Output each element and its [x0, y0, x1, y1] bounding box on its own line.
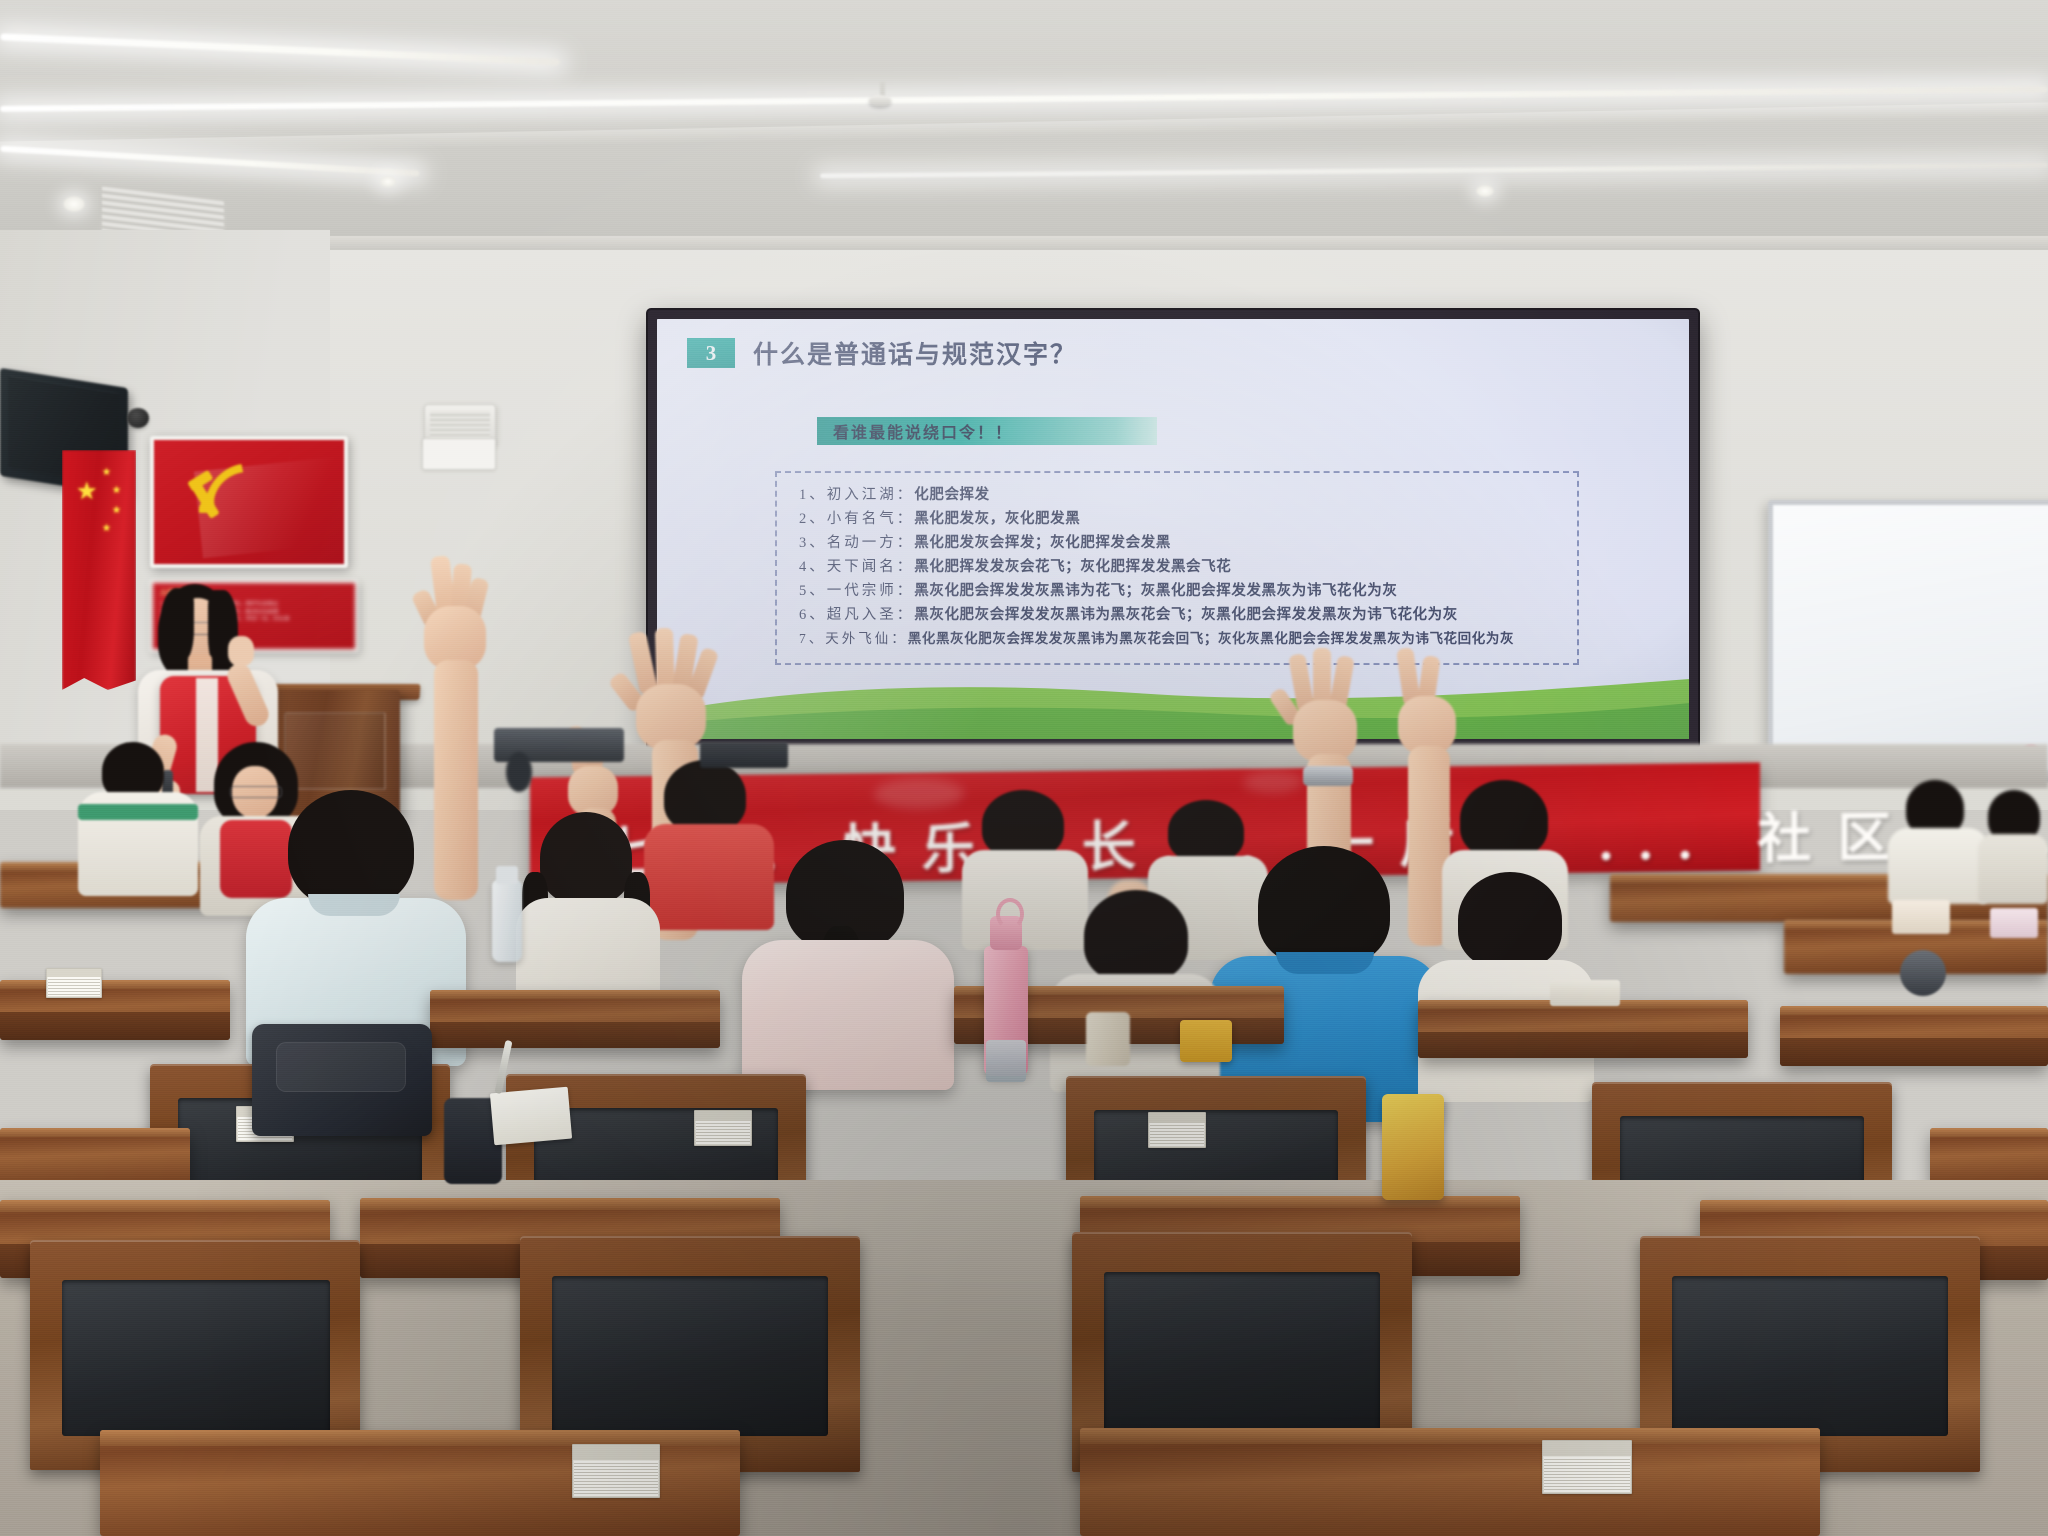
seat-tag [1148, 1112, 1206, 1148]
paper-sheet [1550, 980, 1620, 1006]
ceiling-downlight [380, 176, 396, 187]
sprinkler-head [869, 95, 891, 106]
student-shirt [742, 940, 954, 1090]
tongue-twister-box: 1、初入江湖：化肥会挥发 2、小有名气：黑化肥发灰，灰化肥发黑 3、名动一方：黑… [775, 471, 1579, 665]
hammer-sickle-icon [180, 456, 264, 534]
paper-sheet [1892, 900, 1950, 934]
bottle-base [986, 1040, 1026, 1082]
chair-pad [62, 1280, 330, 1436]
seat-tag [694, 1110, 752, 1146]
student-collar [78, 804, 198, 820]
student [78, 742, 198, 892]
party-emblem-panel [150, 436, 348, 568]
round-object [1900, 950, 1946, 996]
pink-item [1990, 908, 2038, 938]
whiteboard [1768, 500, 2048, 775]
tongue-twister-line: 5、一代宗师：黑灰化肥会挥发发灰黑讳为花飞；灰黑化肥会挥发发黑灰为讳飞花化为灰 [799, 579, 1397, 600]
notebook [490, 1087, 572, 1146]
seat-tag [572, 1444, 660, 1498]
yellow-bag [1382, 1094, 1444, 1200]
slide-decorative-hill [657, 673, 1689, 739]
desk [0, 1128, 190, 1188]
tongue-twister-line: 1、初入江湖：化肥会挥发 [799, 483, 990, 504]
slide-title: 什么是普通话与规范汉字？ [753, 335, 1077, 371]
slide-subtitle-bar: 看谁最能说绕口令！！ [817, 417, 1157, 445]
party-flag: ★ ★ ★ ★ ★ [62, 450, 136, 690]
tongue-twister-line: 6、超凡入圣：黑灰化肥灰会挥发发灰黑讳为黑灰花会飞；灰黑化肥会挥发发黑灰为讳飞花… [799, 603, 1458, 624]
yellow-item [1180, 1020, 1232, 1062]
bottle-cap [496, 866, 518, 884]
slide-number-badge: 3 [687, 338, 735, 368]
water-bottle-clear [492, 880, 522, 962]
cable [506, 752, 532, 792]
cup-grey [1086, 1012, 1130, 1066]
security-camera [127, 408, 149, 428]
projection-screen-frame: 3 什么是普通话与规范汉字？ 看谁最能说绕口令！！ 1、初入江湖：化肥会挥发 2… [648, 310, 1698, 748]
desk [430, 990, 720, 1048]
desk [0, 980, 230, 1040]
ceiling-downlight [1476, 185, 1494, 197]
slide-subtitle-text: 看谁最能说绕口令！！ [817, 419, 1013, 443]
ceiling-downlight [63, 196, 85, 212]
chair-pad [552, 1276, 828, 1436]
bottle-strap [996, 898, 1024, 930]
seat-tag [46, 968, 102, 998]
chair-pad [1104, 1272, 1380, 1436]
student [1978, 790, 2048, 900]
wall-control-panel [422, 438, 496, 470]
tongue-twister-line: 7、天外飞仙：黑化黑灰化肥灰会挥发发灰黑讳为黑灰花会回飞；灰化灰黑化肥会会挥发发… [799, 627, 1514, 647]
equipment [700, 742, 788, 768]
chair-pad [1672, 1276, 1948, 1436]
desk [1930, 1128, 2048, 1188]
classroom-photo-scene: ★ ★ ★ ★ ★ 人民满意 1、坚持党的领导，巩固基层政权，维护社会稳定 2、… [0, 0, 2048, 1536]
tongue-twister-line: 2、小有名气：黑化肥发灰，灰化肥发黑 [799, 507, 1080, 528]
tongue-twister-line: 4、天下闻名：黑化肥挥发发灰会花飞；灰化肥挥发发黑会飞花 [799, 555, 1231, 576]
wristwatch [1303, 766, 1353, 786]
tongue-twister-line: 3、名动一方：黑化肥发灰会挥发；灰化肥挥发会发黑 [799, 531, 1171, 552]
student-front-center [742, 840, 954, 1080]
seat-tag [1542, 1440, 1632, 1494]
desk [1780, 1006, 2048, 1066]
projection-screen: 3 什么是普通话与规范汉字？ 看谁最能说绕口令！！ 1、初入江湖：化肥会挥发 2… [657, 319, 1689, 739]
desk-bottom [1080, 1428, 1820, 1536]
backpack [252, 1024, 432, 1136]
desk [1418, 1000, 1748, 1058]
